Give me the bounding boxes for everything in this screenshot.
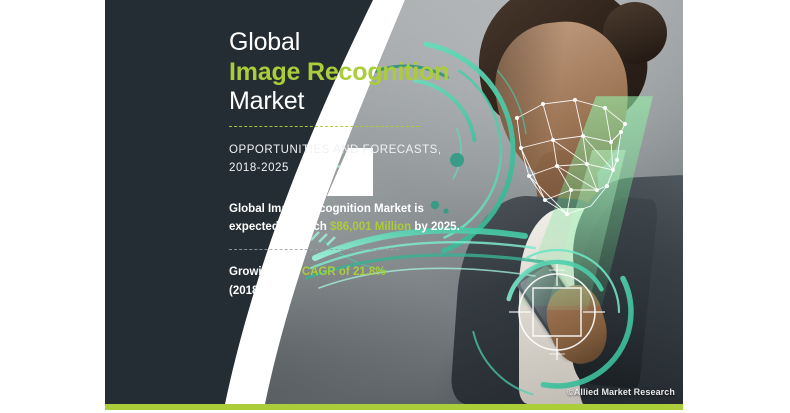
page-title: Global Image Recognition Market: [229, 28, 469, 117]
title-line-2: Image Recognition: [229, 58, 469, 88]
title-line-1: Global: [229, 28, 469, 58]
subtitle-line-2: 2018-2025: [229, 162, 289, 174]
cagr-text-before: Growing at a: [229, 266, 302, 278]
market-value-statement: Global Image Recognition Market is expec…: [229, 200, 469, 237]
cagr-highlight: CAGR of 21.8%: [302, 266, 386, 278]
bottom-accent-bar: [105, 404, 683, 410]
infographic-canvas: Global Image Recognition Market OPPORTUN…: [0, 0, 790, 413]
market-value-text-after: by 2025.: [411, 221, 460, 233]
stat-divider: [229, 249, 399, 251]
cagr-period: (2018-2025): [229, 285, 292, 297]
banner-content: Global Image Recognition Market OPPORTUN…: [229, 28, 469, 300]
subtitle: OPPORTUNITIES AND FORECASTS, 2018-2025: [229, 141, 469, 178]
title-divider: [229, 126, 419, 128]
banner-panel: Global Image Recognition Market OPPORTUN…: [105, 0, 683, 404]
title-line-3: Market: [229, 87, 469, 117]
subtitle-line-1: OPPORTUNITIES AND FORECASTS,: [229, 144, 442, 156]
cagr-statement: Growing at a CAGR of 21.8% (2018-2025): [229, 263, 469, 300]
market-value-highlight: $86,001 Million: [330, 221, 411, 233]
copyright-credit: ©Allied Market Research: [567, 387, 675, 397]
